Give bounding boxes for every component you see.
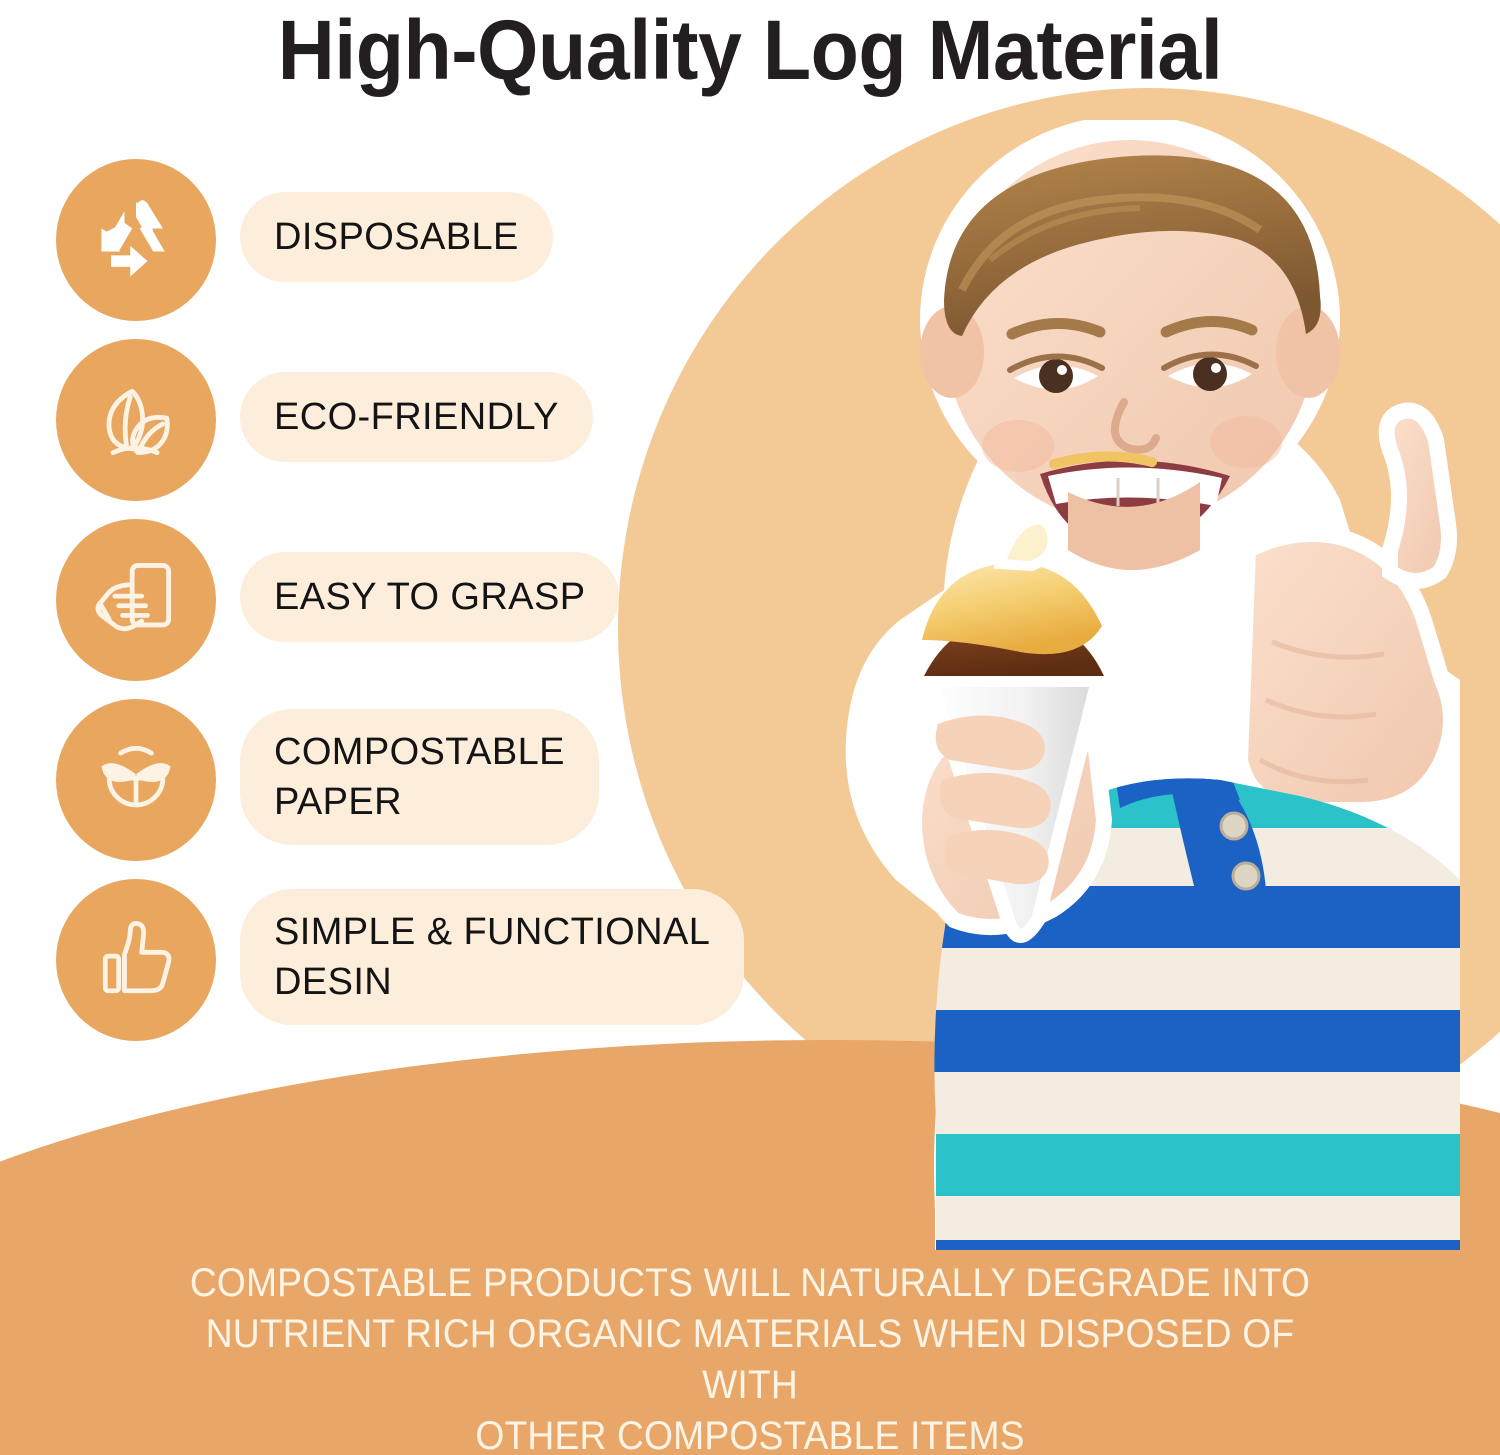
feature-pill: EASY TO GRASP — [240, 552, 619, 642]
sticker-white-outline — [846, 120, 1460, 1250]
bottom-caption: COMPOSTABLE PRODUCTS WILL NATURALLY DEGR… — [164, 1258, 1336, 1455]
feature-item-eco-friendly[interactable]: ECO-FRIENDLY — [52, 335, 772, 515]
hand-holding-cup-icon — [52, 515, 220, 685]
recycle-icon — [52, 155, 220, 325]
feature-list: DISPOSABLE ECO-FRIENDLY — [52, 155, 772, 1055]
thumbs-up-arm — [1240, 411, 1451, 810]
boy-head — [920, 140, 1340, 570]
feature-pill: SIMPLE & FUNCTIONAL DESIN — [240, 889, 744, 1025]
feature-pill: COMPOSTABLE PAPER — [240, 709, 599, 845]
hero-photo-boy-with-cone — [700, 120, 1500, 1250]
page-title: High-Quality Log Material — [45, 2, 1455, 98]
feature-item-disposable[interactable]: DISPOSABLE — [52, 155, 772, 335]
feature-item-compostable-paper[interactable]: COMPOSTABLE PAPER — [52, 695, 772, 875]
feature-label: ECO-FRIENDLY — [274, 392, 559, 442]
feature-label: COMPOSTABLE PAPER — [274, 727, 565, 827]
striped-shirt — [900, 769, 1500, 1250]
product-feature-poster: High-Quality Log Material — [0, 0, 1500, 1455]
left-arm-holding-cone — [914, 710, 1104, 927]
feature-pill: ECO-FRIENDLY — [240, 372, 593, 462]
fingers — [936, 715, 1051, 884]
feature-label: EASY TO GRASP — [274, 572, 585, 622]
paper-snow-cone — [922, 520, 1104, 936]
feature-item-simple-functional-design[interactable]: SIMPLE & FUNCTIONAL DESIN — [52, 875, 772, 1055]
leaves-icon — [52, 335, 220, 505]
sprout-icon — [52, 695, 220, 865]
feature-pill: DISPOSABLE — [240, 192, 553, 282]
thumbs-up-icon — [52, 875, 220, 1045]
feature-label: DISPOSABLE — [274, 212, 519, 262]
feature-item-easy-to-grasp[interactable]: EASY TO GRASP — [52, 515, 772, 695]
feature-label: SIMPLE & FUNCTIONAL DESIN — [274, 907, 710, 1007]
